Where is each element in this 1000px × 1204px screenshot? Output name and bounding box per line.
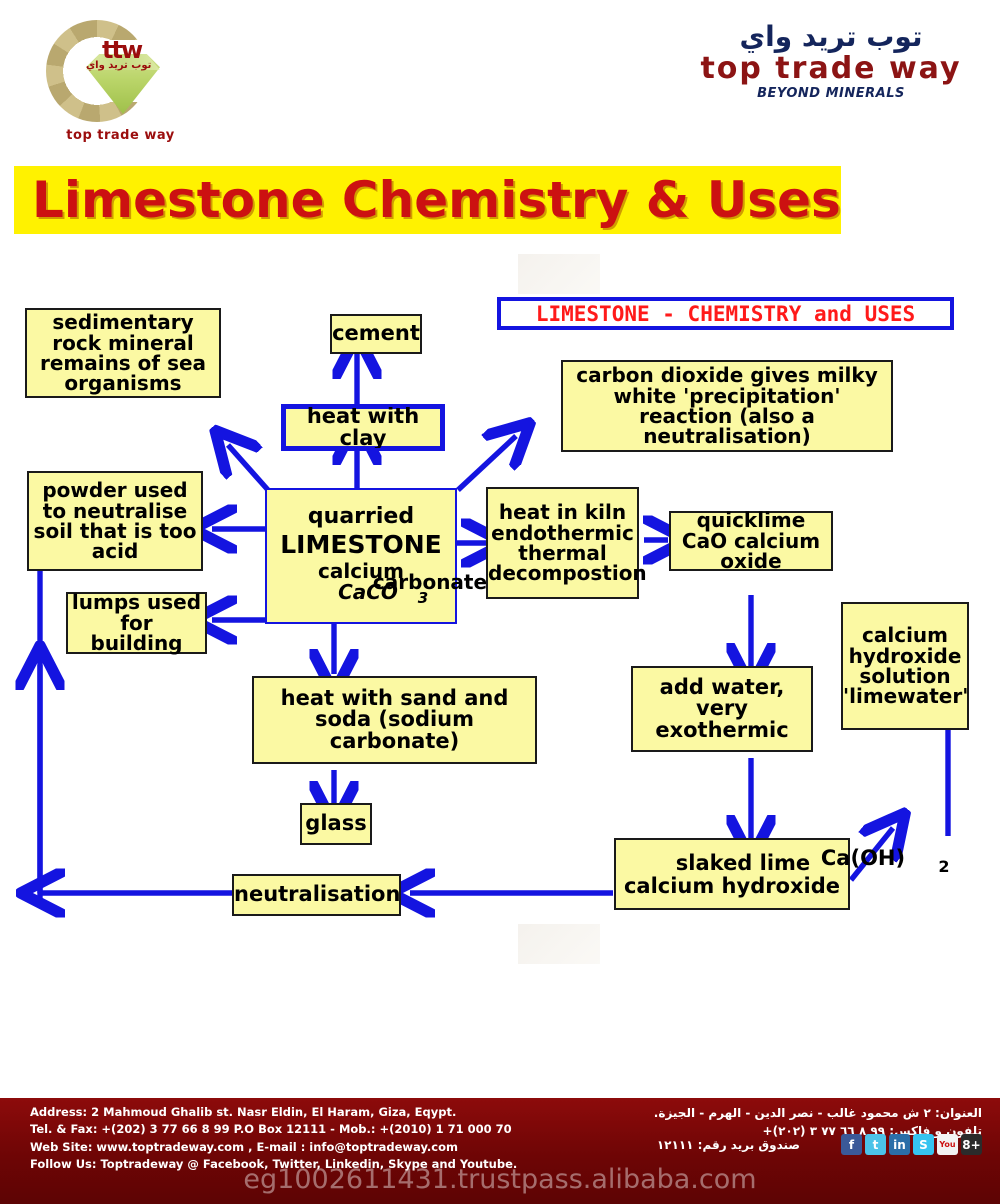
- footer-pobox-arabic: صندوق بريد رقم: ١٢١١١: [657, 1138, 800, 1152]
- node-neutralisation[interactable]: neutralisation: [232, 874, 401, 916]
- node-heat-with-sand-soda-label: heat with sand and soda (sodium carbonat…: [254, 688, 535, 752]
- node-carbon-dioxide[interactable]: carbon dioxide gives milky white 'precip…: [561, 360, 893, 452]
- linkedin-icon[interactable]: in: [889, 1134, 910, 1155]
- logo-right-tagline: BEYOND MINERALS: [676, 86, 986, 101]
- node-cement[interactable]: cement: [330, 314, 422, 354]
- node-limestone-line2: LIMESTONE: [264, 532, 458, 558]
- footer-address: Address: 2 Mahmoud Ghalib st. Nasr Eldin…: [30, 1104, 517, 1121]
- twitter-icon[interactable]: t: [865, 1134, 886, 1155]
- diagram-banner: LIMESTONE - CHEMISTRY and USES: [497, 297, 954, 330]
- node-glass[interactable]: glass: [300, 803, 372, 845]
- googleplus-icon[interactable]: 8+: [961, 1134, 982, 1155]
- node-add-water-exothermic[interactable]: add water, very exothermic: [631, 666, 813, 752]
- company-logo-left: ttw توب تريد واي top trade way: [24, 14, 214, 146]
- node-lumps-for-building[interactable]: lumps used for building: [66, 592, 207, 654]
- page-title-banner: Limestone Chemistry & Uses: [14, 166, 841, 234]
- node-slaked-lime-formula-subscript: 2: [822, 859, 1000, 875]
- footer-website[interactable]: Web Site: www.toptradeway.com , E-mail :…: [30, 1139, 517, 1156]
- node-neutralisation-label: neutralisation: [231, 884, 402, 905]
- logo-caption: top trade way: [28, 128, 213, 143]
- node-powder-neutralise-soil-label: powder used to neutralise soil that is t…: [29, 480, 201, 562]
- node-limewater-label: calcium hydroxide solution 'limewater': [840, 625, 970, 707]
- skype-icon[interactable]: S: [913, 1134, 934, 1155]
- node-powder-neutralise-soil[interactable]: powder used to neutralise soil that is t…: [27, 471, 203, 571]
- logo-right-english: top trade way: [676, 53, 986, 85]
- social-links: f t in S You 8+: [841, 1134, 982, 1155]
- node-quicklime[interactable]: quicklime CaO calcium oxide: [669, 511, 833, 571]
- node-slaked-lime[interactable]: slaked lime Ca(OH) 2 calcium hydroxide: [614, 838, 850, 910]
- logo-arabic-mark: توب تريد واي: [86, 60, 151, 71]
- footer-telephone: Tel. & Fax: +(202) 3 77 66 8 99 P.O Box …: [30, 1121, 517, 1138]
- node-carbon-dioxide-label: carbon dioxide gives milky white 'precip…: [563, 365, 891, 447]
- node-sedimentary-rock-label: sedimentary rock mineral remains of sea …: [27, 312, 219, 394]
- node-limestone-line1: quarried: [264, 506, 458, 528]
- node-heat-with-sand-soda[interactable]: heat with sand and soda (sodium carbonat…: [252, 676, 537, 764]
- footer-address-arabic: العنوان: ٢ ش محمود غالب - نصر الدين - ال…: [654, 1104, 982, 1122]
- page-title: Limestone Chemistry & Uses: [14, 166, 841, 234]
- node-heat-with-clay[interactable]: heat with clay: [284, 407, 442, 448]
- diagram-banner-text: LIMESTONE - CHEMISTRY and USES: [536, 302, 915, 326]
- node-limewater[interactable]: calcium hydroxide solution 'limewater': [841, 602, 969, 730]
- node-add-water-exothermic-label: add water, very exothermic: [633, 677, 811, 741]
- facebook-icon[interactable]: f: [841, 1134, 862, 1155]
- page-header: ttw توب تريد واي top trade way توب تريد …: [0, 0, 1000, 152]
- logo-right-arabic: توب تريد واي: [676, 22, 986, 53]
- alibaba-watermark: eg1002611431.trustpass.alibaba.com: [0, 1164, 1000, 1195]
- node-heat-in-kiln[interactable]: heat in kiln endothermic thermal decompo…: [486, 487, 639, 599]
- node-cement-label: cement: [329, 323, 423, 344]
- node-glass-label: glass: [302, 813, 370, 834]
- node-quicklime-label: quicklime CaO calcium oxide: [671, 510, 831, 571]
- node-lumps-for-building-label: lumps used for building: [68, 592, 205, 653]
- node-slaked-lime-line2: calcium hydroxide: [613, 876, 851, 897]
- limestone-flow-diagram: LIMESTONE - CHEMISTRY and USES sedimenta…: [0, 240, 1000, 970]
- node-heat-in-kiln-label: heat in kiln endothermic thermal decompo…: [485, 502, 640, 584]
- node-heat-with-clay-label: heat with clay: [286, 406, 440, 449]
- node-quarried-limestone[interactable]: quarried LIMESTONE calcium CaCO 3 carbon…: [265, 488, 457, 624]
- company-logo-right: توب تريد واي top trade way BEYOND MINERA…: [676, 22, 986, 101]
- node-sedimentary-rock[interactable]: sedimentary rock mineral remains of sea …: [25, 308, 221, 398]
- youtube-icon[interactable]: You: [937, 1134, 958, 1155]
